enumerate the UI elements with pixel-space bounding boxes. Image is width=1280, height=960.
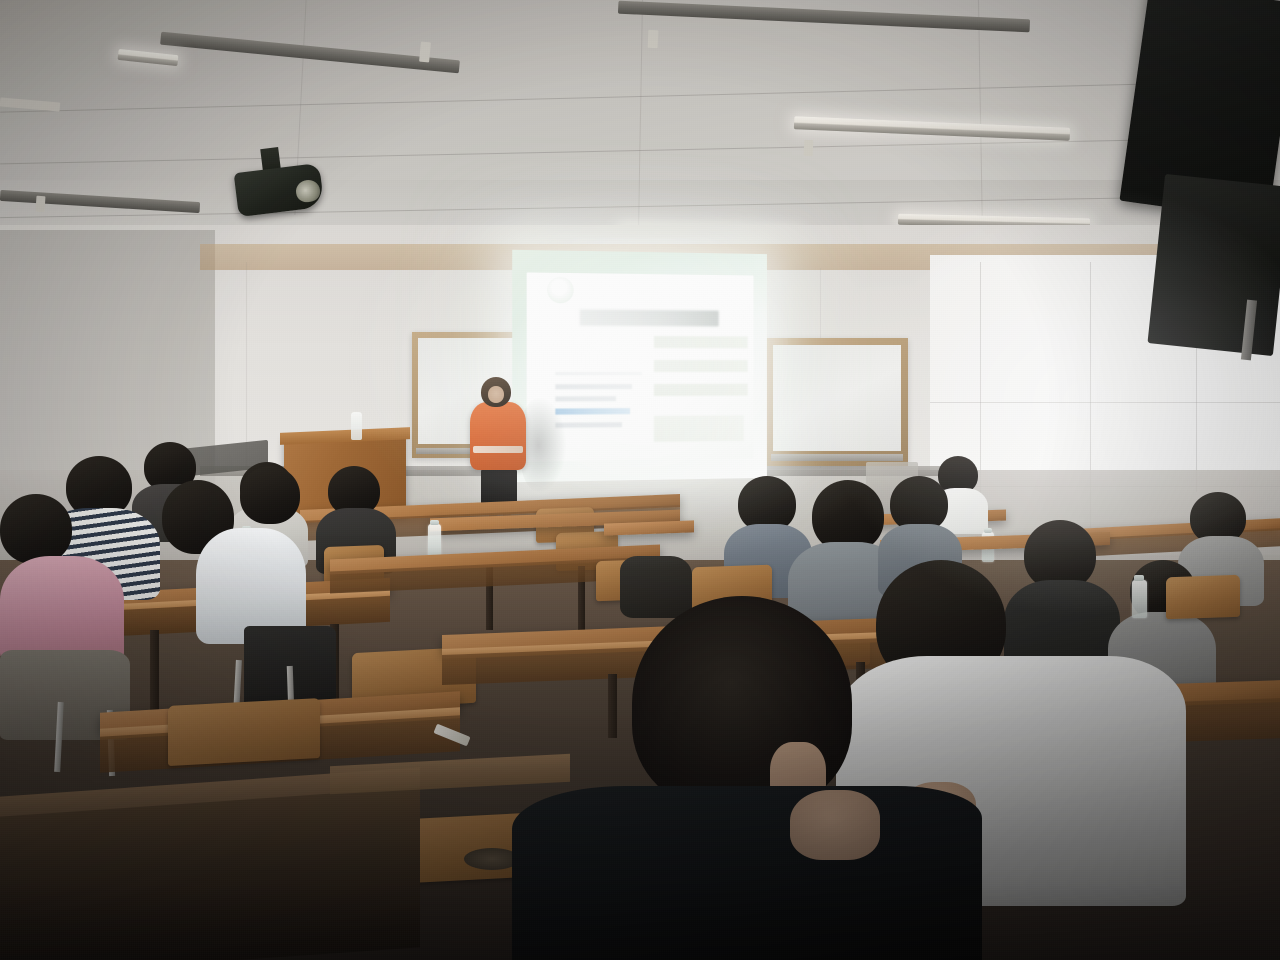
presenter-belt [473, 446, 523, 453]
water-bottle-right [1132, 580, 1147, 618]
bottle-cap [430, 520, 439, 525]
student-grey-top-left-head [240, 466, 300, 524]
slide-left-line [555, 384, 632, 389]
wall-monitor-lower [1147, 174, 1280, 356]
slide-right-block [654, 415, 744, 442]
desk-leg [150, 630, 159, 722]
slide-logo-icon [547, 277, 573, 304]
light-bracket [648, 30, 659, 48]
slide-left-line [555, 372, 642, 375]
presenter-face [488, 386, 504, 403]
water-bottle-podium [351, 412, 362, 440]
presenter-top [470, 402, 526, 470]
slide-right-block [654, 384, 748, 396]
light-bracket [36, 196, 46, 213]
desk-front-foreground [0, 787, 420, 960]
desk-leg [608, 674, 617, 738]
student-pink-shirt-head [0, 494, 72, 564]
bottle-cap [984, 528, 992, 533]
whiteboard-right-surface [773, 345, 901, 451]
whiteboard-right [766, 338, 908, 466]
slide-left-line-accent [555, 408, 630, 415]
chair-back [168, 698, 320, 766]
chair-back [1166, 575, 1240, 620]
slide-left-line [555, 396, 616, 401]
student-black-tshirt-hand [790, 790, 880, 860]
classroom-photo [0, 0, 1280, 960]
slide-right-block [654, 336, 748, 348]
slide-title [580, 309, 719, 326]
wall-panel-seam [930, 402, 1280, 403]
light-bracket [804, 140, 814, 156]
wall-panel-seam [246, 262, 247, 472]
backpack [620, 556, 692, 618]
student-black-tshirt-body [512, 786, 982, 960]
whiteboard-right-tray [771, 454, 903, 461]
presenter-shadow [520, 398, 566, 492]
slide-right-block [654, 360, 748, 372]
water-bottle-center [428, 524, 441, 556]
light-bracket [419, 42, 431, 63]
bottle-cap [1134, 575, 1144, 581]
